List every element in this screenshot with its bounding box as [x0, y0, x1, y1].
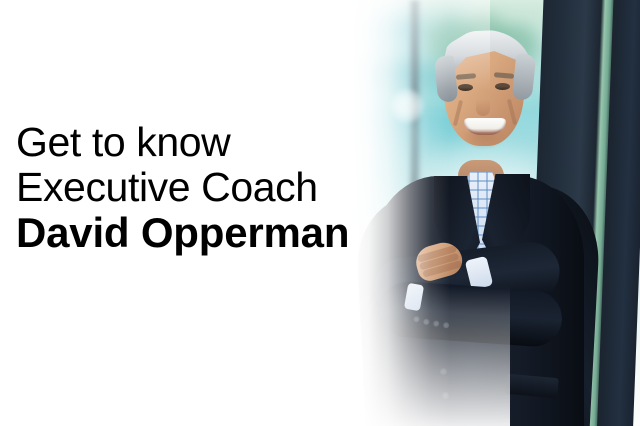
- promo-banner: Get to know Executive Coach David Opperm…: [0, 0, 640, 426]
- photo-bottom-fade: [330, 286, 510, 426]
- coach-portrait-photo: [330, 0, 640, 426]
- photo-top-fade: [330, 0, 490, 90]
- headline-block: Get to know Executive Coach David Opperm…: [16, 122, 376, 254]
- headline-line-3-name: David Opperman: [16, 212, 376, 254]
- headline-line-1: Get to know: [16, 122, 376, 163]
- chin-shadow: [462, 132, 506, 150]
- eye-right: [495, 83, 510, 90]
- headline-line-2: Executive Coach: [16, 167, 376, 208]
- nose: [476, 92, 490, 116]
